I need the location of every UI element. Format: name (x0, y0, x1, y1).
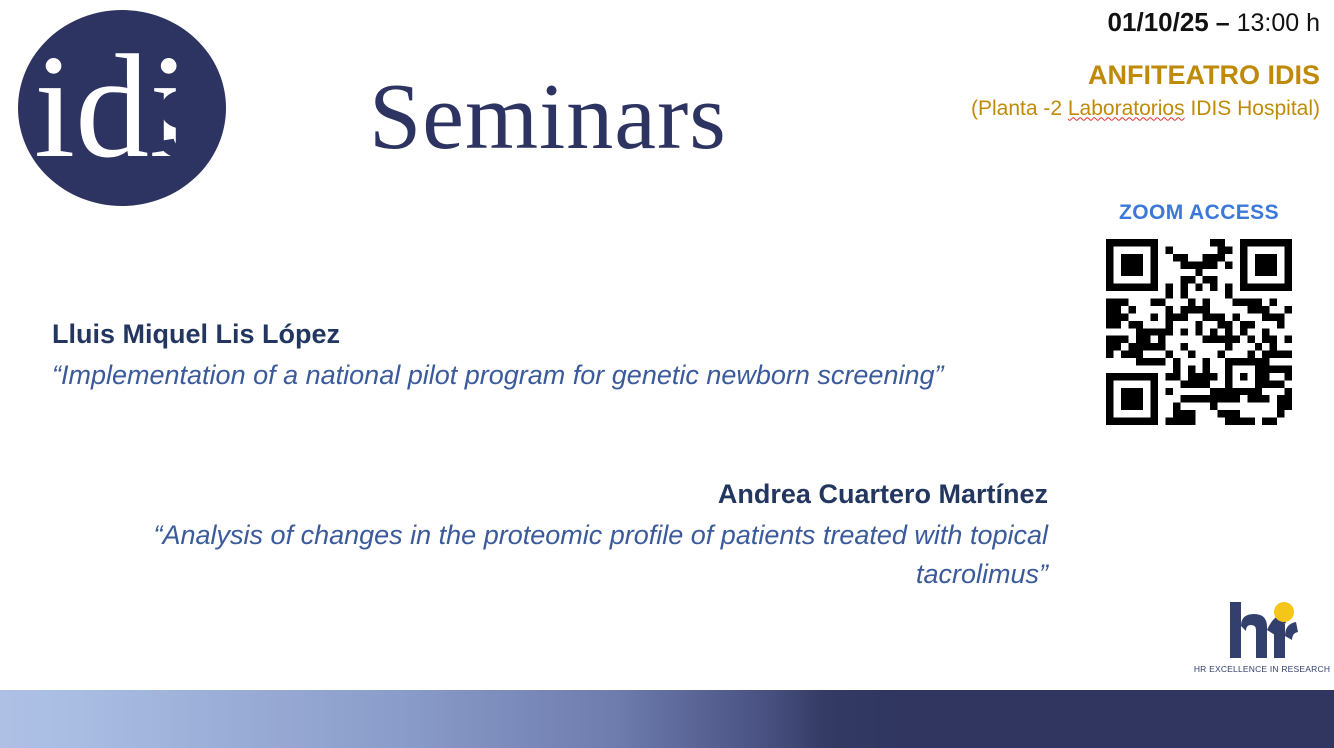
datetime-separator: – (1216, 9, 1230, 37)
talk-speaker-name: Lluis Miquel Lis López (52, 318, 1012, 352)
talk-entry: Lluis Miquel Lis López “Implementation o… (52, 318, 1012, 395)
zoom-access-label: ZOOM ACCESS (1094, 200, 1304, 225)
brand-header: idi s Seminars (14, 8, 834, 208)
qr-wrapper (1094, 239, 1304, 425)
venue-detail-prefix: (Planta -2 (971, 97, 1068, 120)
event-time: 13:00 h (1237, 9, 1320, 37)
venue-detail-suffix: IDIS Hospital) (1185, 97, 1320, 120)
venue-detail-spellchecked-word: Laboratorios (1068, 97, 1185, 120)
venue-name: ANFITEATRO IDIS (850, 59, 1320, 91)
event-datetime: 01/10/25 – 13:00 h (850, 6, 1320, 39)
seminar-poster: idi s Seminars 01/10/25 – 13:00 h ANFITE… (0, 0, 1334, 748)
talk-speaker-name: Andrea Cuartero Martínez (96, 478, 1048, 512)
idis-logo-icon: idi s (14, 8, 334, 208)
talk-title: “Implementation of a national pilot prog… (52, 356, 1012, 395)
event-meta: 01/10/25 – 13:00 h ANFITEATRO IDIS (Plan… (850, 6, 1320, 122)
qr-code-icon[interactable] (1106, 239, 1292, 425)
talk-title: “Analysis of changes in the proteomic pr… (96, 516, 1048, 595)
hr-excellence-caption: HR EXCELLENCE IN RESEARCH (1190, 664, 1334, 674)
venue-detail: (Planta -2 Laboratorios IDIS Hospital) (850, 96, 1320, 122)
svg-text:s: s (154, 44, 224, 185)
talk-entry: Andrea Cuartero Martínez “Analysis of ch… (96, 478, 1048, 595)
hr-excellence-logo: HR EXCELLENCE IN RESEARCH (1190, 600, 1334, 688)
footer-gradient-bar (0, 690, 1334, 748)
zoom-access-block: ZOOM ACCESS (1094, 200, 1304, 425)
event-date: 01/10/25 (1108, 7, 1209, 37)
page-title: Seminars (369, 70, 727, 164)
hr-excellence-icon (1222, 600, 1302, 662)
